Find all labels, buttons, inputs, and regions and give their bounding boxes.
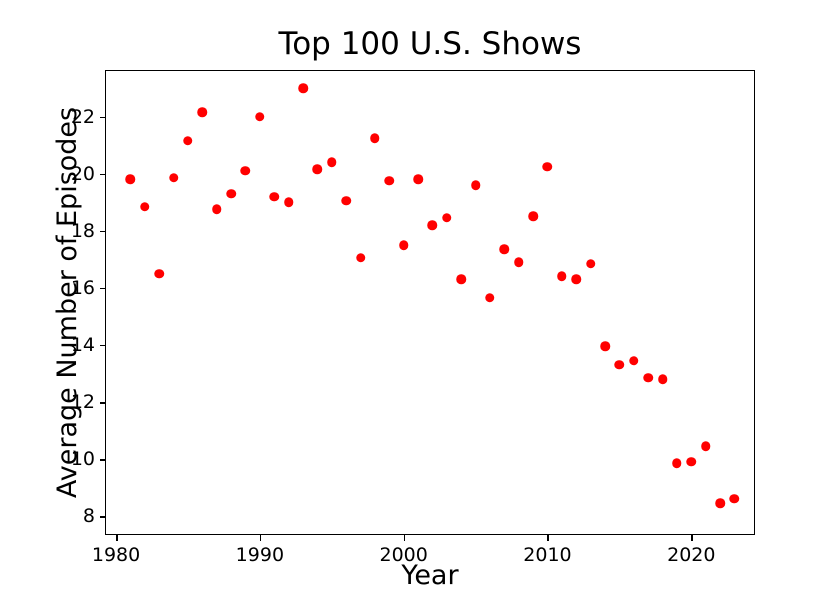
data-point — [183, 136, 193, 146]
y-axis-label: Average Number of Episodes — [48, 70, 88, 535]
y-axis-tick-mark — [100, 345, 107, 347]
data-point — [730, 494, 740, 504]
data-point — [284, 197, 294, 207]
data-point — [600, 342, 610, 352]
y-axis-tick-mark — [100, 288, 107, 290]
x-axis-tick-mark — [404, 534, 406, 541]
data-point — [212, 205, 222, 215]
data-point — [500, 245, 510, 255]
data-point — [471, 180, 481, 190]
y-axis-tick-mark — [100, 231, 107, 233]
data-point — [442, 213, 452, 223]
data-point — [298, 83, 308, 93]
data-point — [126, 175, 136, 185]
data-point — [701, 441, 711, 451]
data-point — [270, 192, 280, 202]
data-point — [154, 269, 164, 279]
y-axis-tick-mark — [100, 117, 107, 119]
x-axis-tick-mark — [260, 534, 262, 541]
data-point — [413, 175, 423, 185]
data-point — [571, 275, 581, 285]
data-point — [514, 257, 524, 267]
data-point — [428, 220, 438, 230]
data-point — [687, 457, 697, 467]
data-point — [341, 196, 351, 206]
scatter-chart-figure: Top 100 U.S. Shows 810121416182022 19801… — [0, 0, 834, 600]
data-point — [456, 275, 466, 285]
x-axis-tick-mark — [116, 534, 118, 541]
data-point — [370, 133, 380, 143]
data-point — [629, 356, 639, 366]
data-point — [672, 459, 682, 469]
data-point — [255, 112, 265, 122]
data-point — [543, 162, 553, 172]
x-axis-tick-mark — [547, 534, 549, 541]
data-points-layer — [106, 71, 754, 534]
data-point — [356, 253, 366, 263]
x-axis-tick-mark — [691, 534, 693, 541]
data-point — [385, 176, 395, 186]
data-point — [658, 374, 668, 384]
data-point — [715, 498, 725, 508]
data-point — [241, 166, 251, 176]
data-point — [140, 202, 150, 212]
data-point — [615, 360, 625, 370]
data-point — [399, 240, 409, 250]
data-point — [557, 272, 567, 282]
data-point — [198, 108, 208, 118]
data-point — [313, 165, 323, 175]
y-axis-tick-mark — [100, 402, 107, 404]
chart-title: Top 100 U.S. Shows — [105, 24, 755, 64]
data-point — [327, 158, 337, 168]
y-axis-tick-mark — [100, 516, 107, 518]
x-axis-label: Year — [105, 560, 755, 591]
data-point — [485, 293, 495, 303]
data-point — [586, 259, 596, 269]
data-point — [169, 173, 179, 183]
data-point — [643, 373, 653, 383]
data-point — [528, 212, 538, 222]
y-axis-tick-mark — [100, 459, 107, 461]
plot-area: 810121416182022 19801990200020102020 — [105, 70, 755, 535]
data-point — [226, 189, 236, 199]
y-axis-tick-mark — [100, 174, 107, 176]
